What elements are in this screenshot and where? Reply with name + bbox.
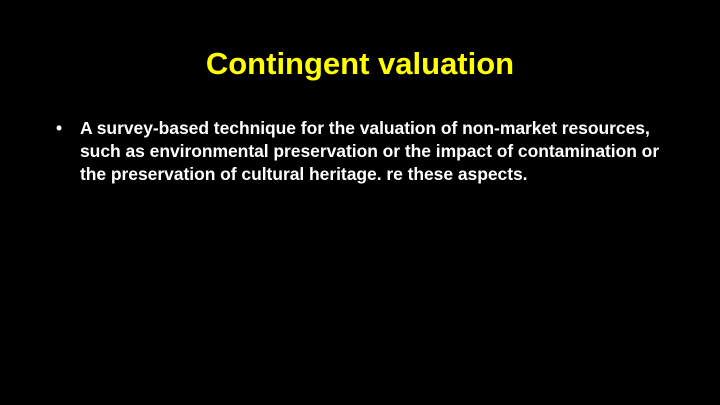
bullet-point-icon: • [56,117,72,140]
slide-canvas: Contingent valuation • A survey-based te… [0,0,720,405]
bullet-list-item: • A survey-based technique for the valua… [48,117,680,187]
slide-title: Contingent valuation [0,47,720,81]
bullet-item-text: A survey-based technique for the valuati… [80,117,680,187]
slide-body: • A survey-based technique for the valua… [48,117,680,187]
